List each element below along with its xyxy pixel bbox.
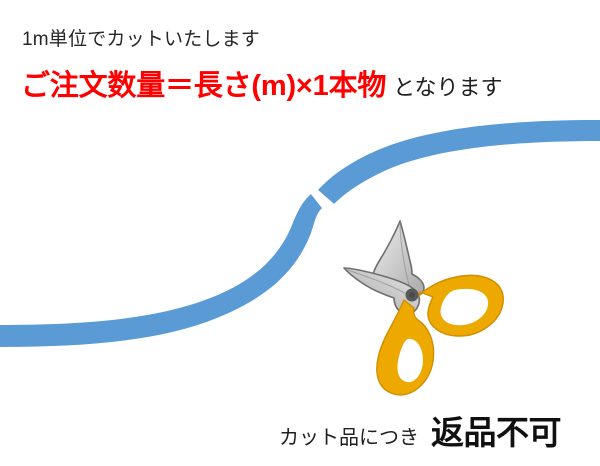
footer-small-text: カット品につき <box>279 427 419 449</box>
image-canvas: 1m単位でカットいたします ご注文数量＝長さ(m)×1本物となります カット品に… <box>0 0 600 466</box>
notice-line: ご注文数量＝長さ(m)×1本物となります <box>21 67 503 110</box>
footer-big-text: 返品不可 <box>419 414 561 451</box>
cable-upper-segment <box>318 120 600 204</box>
notice-red-text: ご注文数量＝長さ(m)×1本物 <box>21 70 386 102</box>
notice-black-text: となります <box>386 75 502 100</box>
cable-lower-segment <box>0 194 322 347</box>
footer-line: カット品につき返品不可 <box>279 412 561 461</box>
scissors-handle-left <box>377 300 434 395</box>
scissors-pivot-icon <box>406 289 419 302</box>
scissors <box>344 221 503 395</box>
heading-text: 1m単位でカットいたします <box>22 28 260 52</box>
scissors-handle-right <box>414 275 503 336</box>
